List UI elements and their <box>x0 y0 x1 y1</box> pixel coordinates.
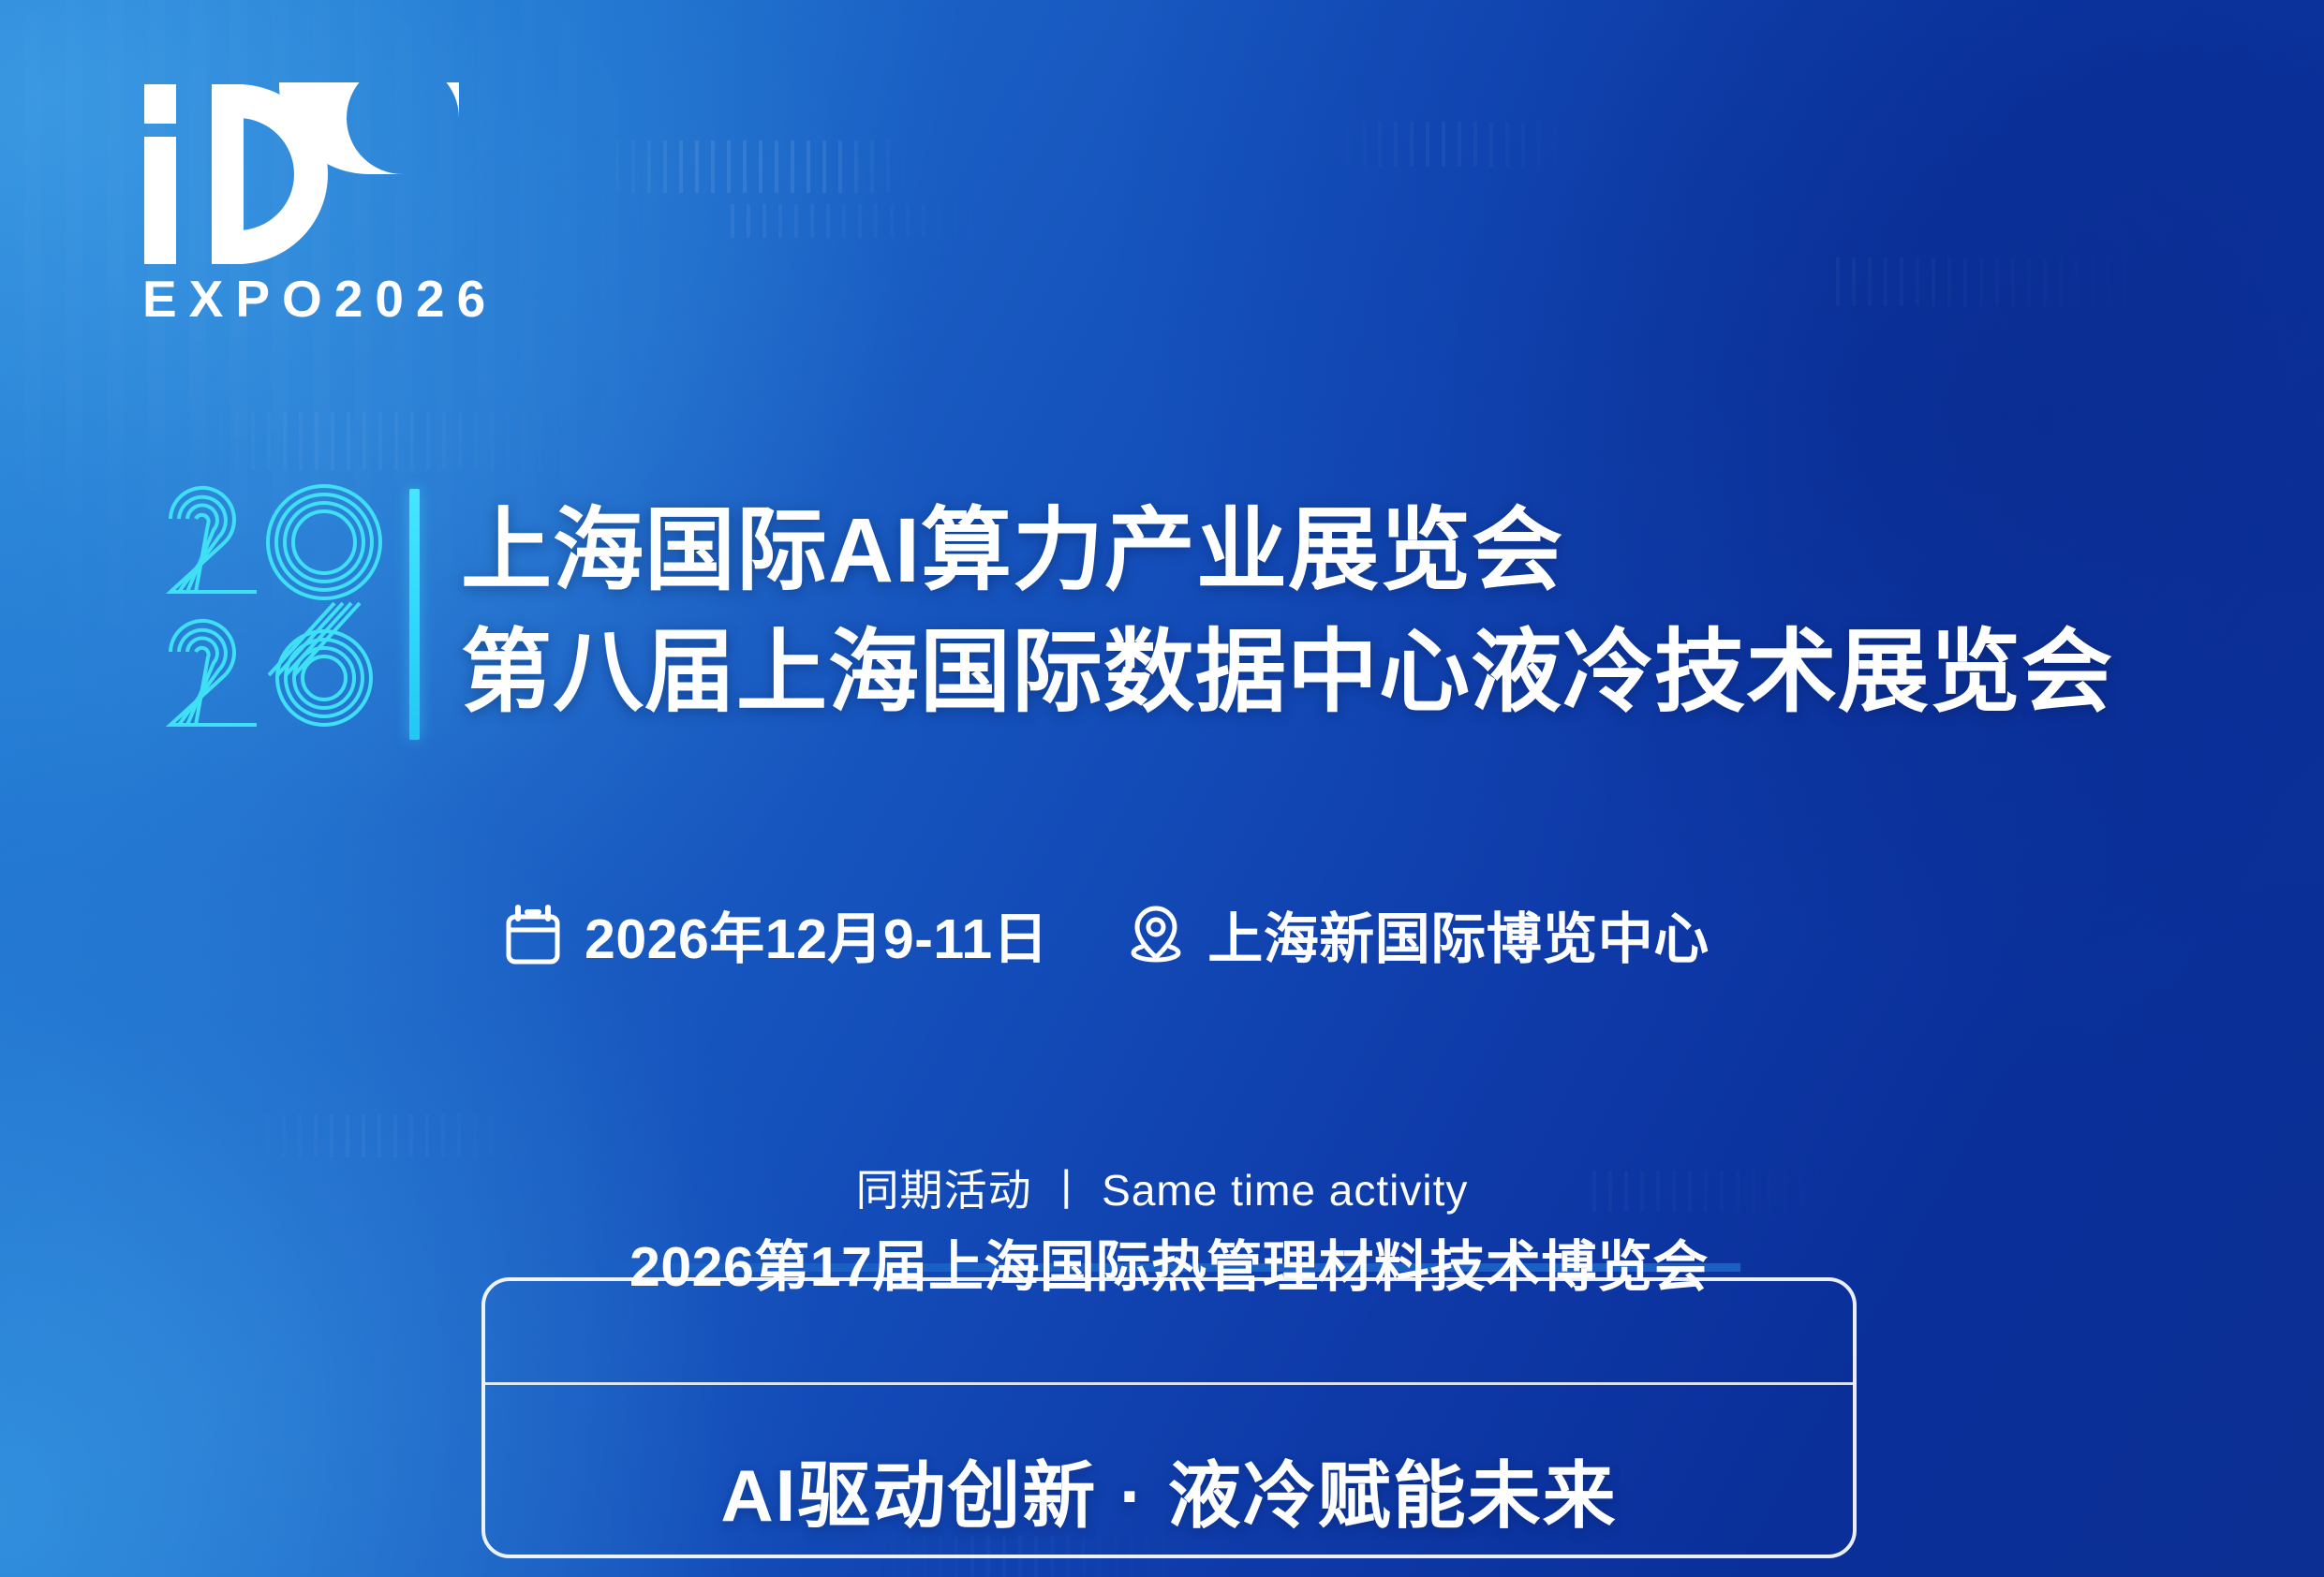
sub-event-title: 2026第17届上海国际热管理材料技术博览会 <box>598 1240 1740 1295</box>
brand-wordmark: EXPO2026 <box>142 273 498 325</box>
brand-logo: EXPO2026 <box>142 82 498 325</box>
event-title-primary: 上海国际AI算力产业展览会 <box>461 496 2113 605</box>
year-2026-icon <box>159 476 389 747</box>
hero-titles: 上海国际AI算力产业展览会 第八届上海国际数据中心液冷技术展览会 <box>461 476 2113 747</box>
event-meta-row: 2026年12月9-11日 上海新国际博览中心 <box>506 894 1710 974</box>
sub-event-card: 2026第17届上海国际热管理材料技术博览会 AI驱动创新 · 液冷赋能未来 <box>481 1277 1857 1558</box>
background-tick-pattern <box>1836 258 2173 306</box>
poster-canvas: EXPO2026 <box>0 0 2324 1577</box>
event-venue-item: 上海新国际博览中心 <box>1129 894 1710 974</box>
background-tick-pattern <box>187 412 590 470</box>
year-2026-graphic <box>159 476 389 747</box>
calendar-icon <box>506 905 560 965</box>
event-title-secondary: 第八届上海国际数据中心液冷技术展览会 <box>461 618 2113 727</box>
idc-logo-icon <box>142 82 461 266</box>
event-venue-text: 上海新国际博览中心 <box>1207 894 1710 974</box>
sub-event-divider <box>485 1382 1853 1385</box>
hero-block: 上海国际AI算力产业展览会 第八届上海国际数据中心液冷技术展览会 <box>159 476 2113 747</box>
background-tick-pattern <box>600 140 909 193</box>
background-tick-pattern <box>234 1114 543 1157</box>
event-date-item: 2026年12月9-11日 <box>506 894 1048 974</box>
hero-accent-rule <box>409 489 420 740</box>
same-time-activity-label: 同期活动 丨 Same time activity <box>0 1157 2324 1218</box>
location-pin-icon <box>1129 904 1183 965</box>
event-date-text: 2026年12月9-11日 <box>585 894 1048 974</box>
background-tick-pattern <box>1330 122 1574 167</box>
sub-event-slogan: AI驱动创新 · 液冷赋能未来 <box>485 1422 1853 1558</box>
background-tick-pattern <box>731 204 993 238</box>
